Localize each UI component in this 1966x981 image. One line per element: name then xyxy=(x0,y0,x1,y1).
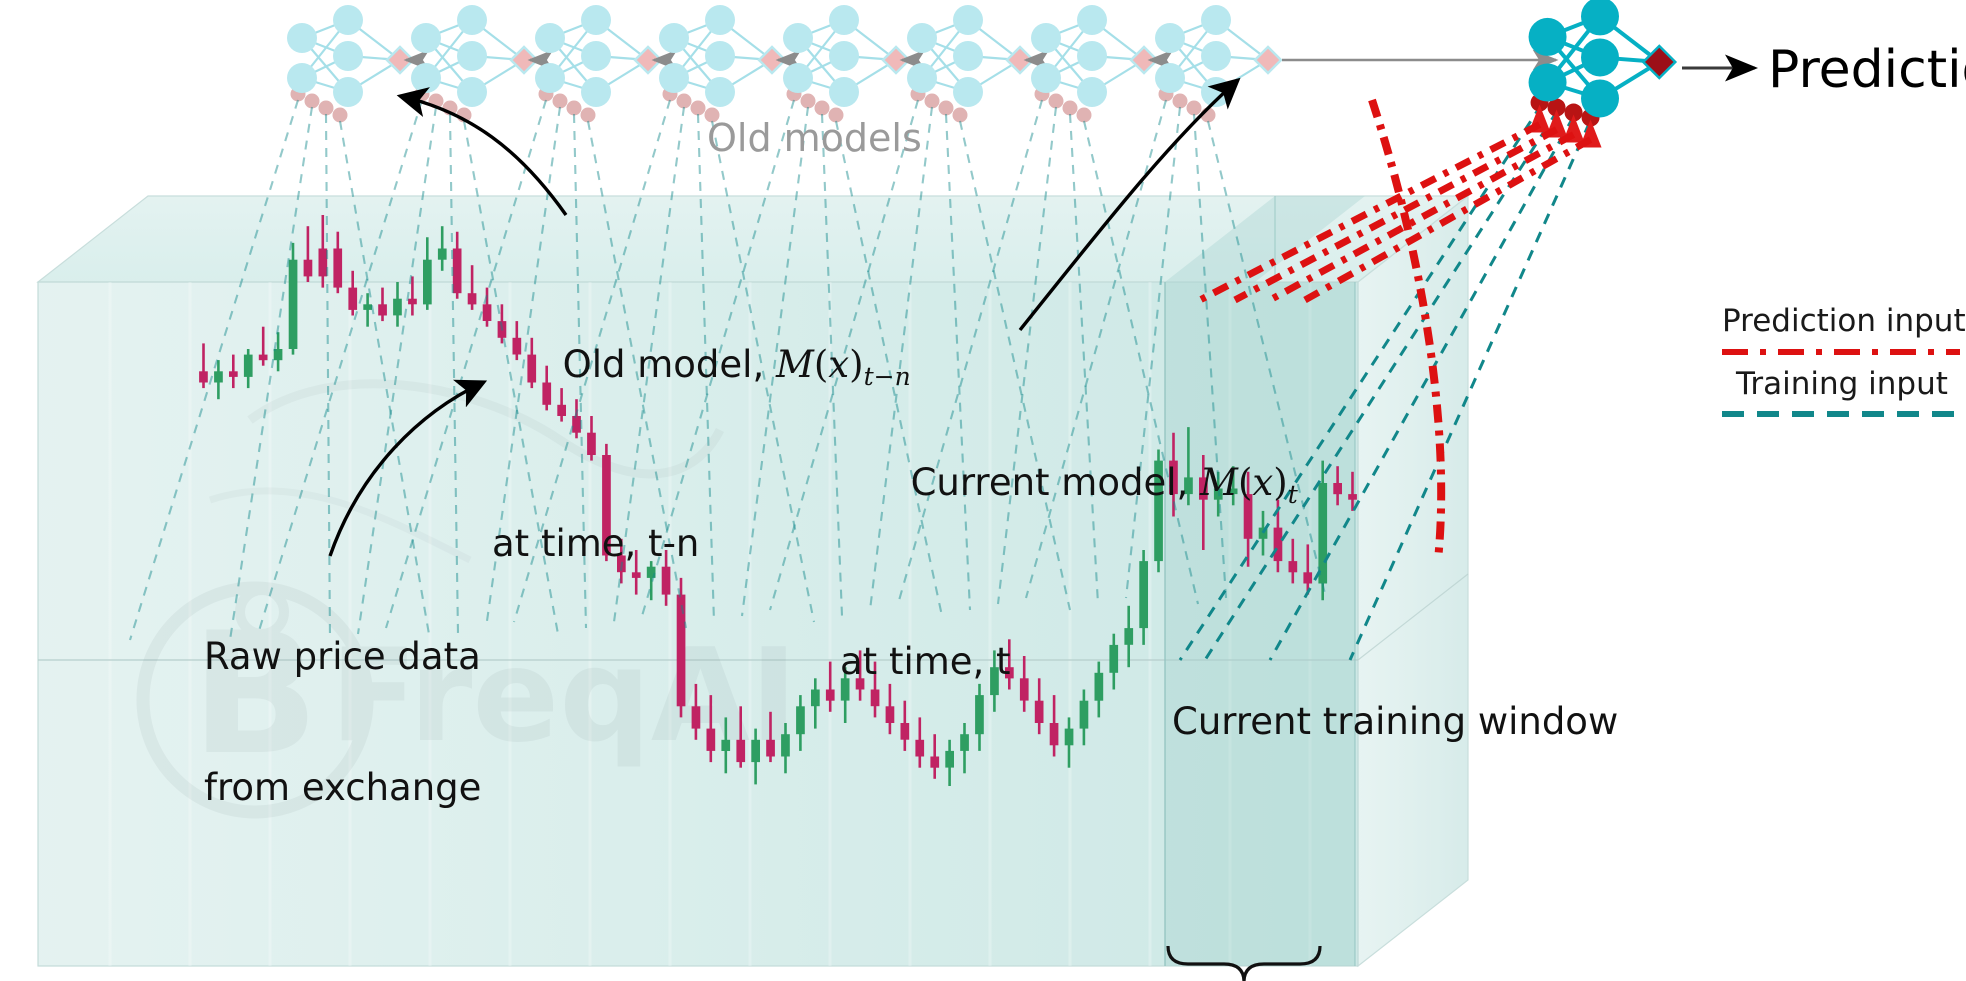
old-model-5-hidden-node-0 xyxy=(953,5,983,35)
old-model-2[interactable] xyxy=(535,5,661,107)
old-model-2-feature-dot-3 xyxy=(581,108,596,123)
old-model-1-input-node-1 xyxy=(411,63,441,93)
old-model-0-input-node-1 xyxy=(287,63,317,93)
old-model-4-hidden-node-1 xyxy=(829,41,859,71)
old-model-2-feature-dot-2 xyxy=(567,101,582,116)
old-model-5-feature-dot-2 xyxy=(939,101,954,116)
annotation-raw-price-line1: Raw price data xyxy=(204,635,481,679)
old-model-2-input-node-0 xyxy=(535,23,565,53)
current-model-math-M: M xyxy=(1200,461,1238,504)
old-model-1-input-node-0 xyxy=(411,23,441,53)
old-model-6-feature-dot-3 xyxy=(1077,108,1092,123)
diagram-canvas: B FreqAI xyxy=(0,0,1966,981)
old-model-3-input-node-0 xyxy=(659,23,689,53)
old-model-3-hidden-node-2 xyxy=(705,77,735,107)
old-model-2-hidden-node-0 xyxy=(581,5,611,35)
prediction-label: Prediction xyxy=(1768,40,1966,100)
old-model-1-hidden-node-1 xyxy=(457,41,487,71)
current-model-hidden-node-2 xyxy=(1581,79,1619,117)
legend-label-training-input: Training input xyxy=(1736,366,1948,402)
old-model-4-feature-dot-1 xyxy=(801,94,816,109)
legend-label-prediction-input: Prediction input xyxy=(1722,303,1966,339)
old-model-6[interactable] xyxy=(1031,5,1157,107)
old-model-7[interactable] xyxy=(1155,5,1281,107)
old-model-0-hidden-node-0 xyxy=(333,5,363,35)
old-model-4-input-node-0 xyxy=(783,23,813,53)
old-model-text-pre: Old model, xyxy=(563,343,776,386)
old-model-0-hidden-node-2 xyxy=(333,77,363,107)
annotation-raw-price: Raw price data from exchange xyxy=(204,548,481,897)
old-model-2-input-node-1 xyxy=(535,63,565,93)
old-model-4-hidden-node-2 xyxy=(829,77,859,107)
old-model-6-input-node-1 xyxy=(1031,63,1061,93)
old-model-0[interactable] xyxy=(287,5,413,107)
old-model-0-hidden-node-1 xyxy=(333,41,363,71)
old-model-math-paren-open: ( xyxy=(814,343,828,386)
old-model-2-feature-dot-1 xyxy=(553,94,568,109)
annotation-raw-price-line2: from exchange xyxy=(204,766,481,810)
old-model-5-hidden-node-2 xyxy=(953,77,983,107)
old-model-4-input-node-1 xyxy=(783,63,813,93)
current-model-output-diamond xyxy=(1643,46,1675,78)
old-model-6-hidden-node-1 xyxy=(1077,41,1107,71)
annotation-current-model-line1: Current model, M(x)t xyxy=(840,417,1298,553)
old-model-3-feature-dot-2 xyxy=(691,101,706,116)
current-model-math-subscript: t xyxy=(1288,480,1298,509)
current-model-input-node-1 xyxy=(1529,64,1567,102)
old-model-6-hidden-node-0 xyxy=(1077,5,1107,35)
old-model-3-hidden-node-0 xyxy=(705,5,735,35)
current-training-window-label: Current training window xyxy=(1172,700,1618,743)
old-model-3[interactable] xyxy=(659,5,785,107)
old-model-1-hidden-node-2 xyxy=(457,77,487,107)
current-model-text-pre: Current model, xyxy=(911,461,1200,504)
old-model-6-feature-dot-2 xyxy=(1063,101,1078,116)
old-model-7-input-node-0 xyxy=(1155,23,1185,53)
old-model-7-input-node-1 xyxy=(1155,63,1185,93)
old-model-1-hidden-node-0 xyxy=(457,5,487,35)
old-model-math-M: M xyxy=(776,343,814,386)
old-model-7-feature-dot-2 xyxy=(1187,101,1202,116)
current-model-input-node-0 xyxy=(1529,18,1567,56)
old-model-4[interactable] xyxy=(783,5,909,107)
old-model-5[interactable] xyxy=(907,5,1033,107)
current-model-math-paren-open: ( xyxy=(1238,461,1252,504)
old-model-6-feature-dot-1 xyxy=(1049,94,1064,109)
old-model-5-input-node-0 xyxy=(907,23,937,53)
old-models-group xyxy=(287,5,1556,107)
current-model-math-paren-close: ) xyxy=(1273,461,1287,504)
old-model-7-hidden-node-1 xyxy=(1201,41,1231,71)
old-model-7-output-diamond xyxy=(1255,47,1281,73)
old-model-0-feature-dot-1 xyxy=(305,94,320,109)
old-model-5-feature-dot-3 xyxy=(953,108,968,123)
old-model-3-hidden-node-1 xyxy=(705,41,735,71)
old-model-6-input-node-0 xyxy=(1031,23,1061,53)
old-model-7-hidden-node-0 xyxy=(1201,5,1231,35)
old-model-5-feature-dot-1 xyxy=(925,94,940,109)
old-model-0-feature-dot-2 xyxy=(319,101,334,116)
old-model-1[interactable] xyxy=(411,5,537,107)
old-model-5-hidden-node-1 xyxy=(953,41,983,71)
old-model-3-feature-dot-1 xyxy=(677,94,692,109)
current-model-hidden-node-1 xyxy=(1581,38,1619,76)
old-models-label: Old models xyxy=(707,116,922,160)
old-model-7-feature-dot-1 xyxy=(1173,94,1188,109)
old-model-3-input-node-1 xyxy=(659,63,689,93)
old-model-4-feature-dot-2 xyxy=(815,101,830,116)
old-model-0-input-node-0 xyxy=(287,23,317,53)
current-model-math-x: x xyxy=(1252,461,1273,504)
annotation-current-model-line2: at time, t xyxy=(840,640,1298,684)
old-model-0-feature-dot-3 xyxy=(333,108,348,123)
old-model-5-input-node-1 xyxy=(907,63,937,93)
old-model-4-hidden-node-0 xyxy=(829,5,859,35)
old-model-6-hidden-node-2 xyxy=(1077,77,1107,107)
old-model-2-hidden-node-1 xyxy=(581,41,611,71)
old-model-2-hidden-node-2 xyxy=(581,77,611,107)
